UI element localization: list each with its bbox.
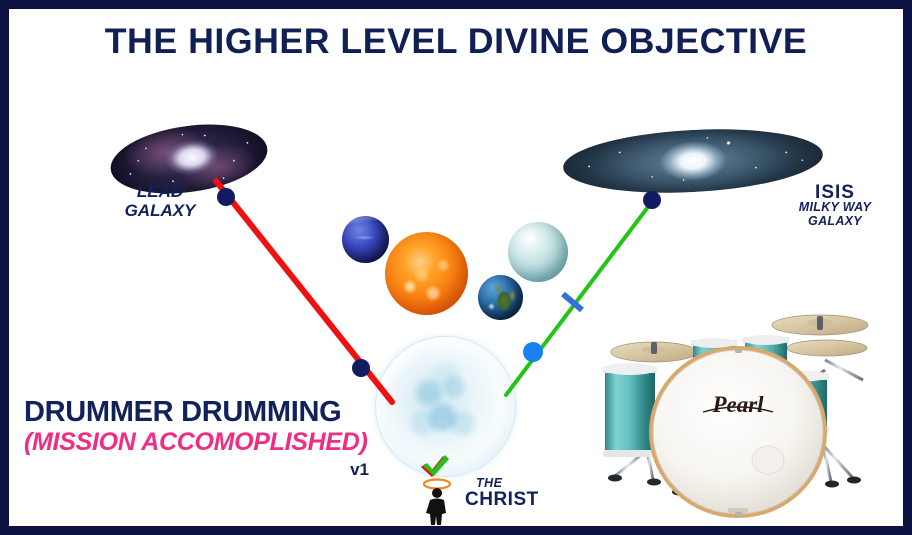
lead-galaxy-label: LEAD GALAXY (95, 182, 225, 220)
milky-way-label-line2: GALAXY (760, 214, 910, 228)
lead-galaxy-label-line2: GALAXY (95, 201, 225, 220)
christ-figure (416, 455, 464, 525)
lead-galaxy-label-line1: LEAD (95, 182, 225, 201)
figure-body (426, 499, 446, 526)
version-label: v1 (24, 460, 369, 480)
page-title: THE HIGHER LEVEL DIVINE OBJECTIVE (0, 22, 912, 62)
green-line-node-lower (523, 342, 543, 362)
green-line-node-upper (643, 191, 661, 209)
christ-name-label: CHRIST (465, 489, 539, 511)
drummer-drumming-label: DRUMMER DRUMMING (24, 396, 341, 429)
milky-way-label: MILKY WAY GALAXY (760, 200, 910, 228)
figure-head (432, 488, 442, 498)
milky-way-label-line1: MILKY WAY (760, 200, 910, 214)
green-connector-line (506, 199, 654, 395)
mission-accomplished-label: (MISSION ACCOMOPLISHED) (24, 428, 368, 457)
halo-icon (424, 480, 450, 489)
red-line-node-lower (352, 359, 370, 377)
christ-the-label: THE (476, 476, 503, 490)
poster-canvas: THE HIGHER LEVEL DIVINE OBJECTIVE (0, 0, 912, 535)
